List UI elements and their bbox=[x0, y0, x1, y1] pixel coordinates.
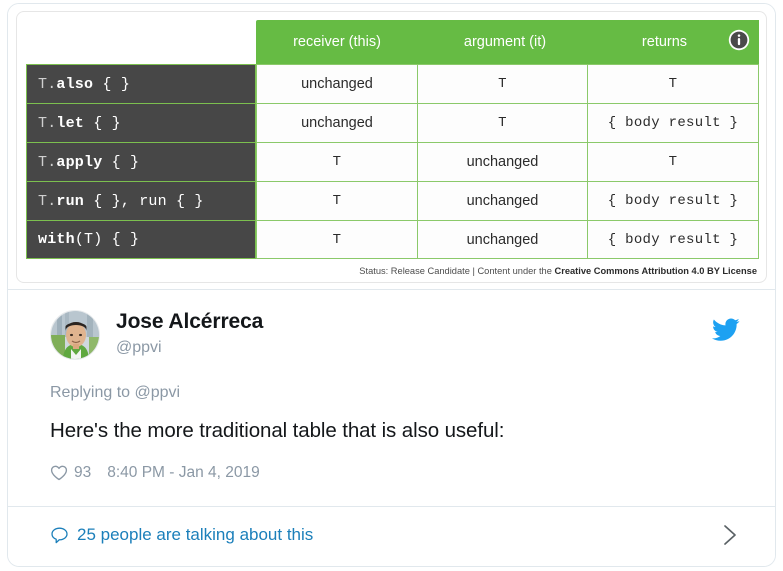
author-names: Jose Alcérreca @ppvi bbox=[116, 309, 263, 359]
info-icon[interactable] bbox=[728, 29, 750, 51]
cell-returns: { body result } bbox=[588, 103, 759, 142]
cell-returns: { body result } bbox=[588, 220, 759, 259]
cell-argument: T bbox=[418, 103, 588, 142]
cell-returns: { body result } bbox=[588, 181, 759, 220]
tweet-embed-screenshot: receiver (this) argument (it) returns bbox=[0, 0, 783, 571]
header-blank-corner bbox=[26, 20, 256, 64]
status-license-line: Status: Release Candidate | Content unde… bbox=[359, 266, 757, 276]
status-prefix-text: Status: Release Candidate | Content unde… bbox=[359, 266, 554, 276]
scope-function-label: T.also { } bbox=[26, 64, 256, 103]
tweet-author-row: Jose Alcérreca @ppvi bbox=[50, 310, 740, 366]
scope-receiver-type: T. bbox=[38, 193, 56, 210]
column-header-receiver-label: receiver (this) bbox=[293, 34, 381, 50]
cell-receiver: unchanged bbox=[256, 103, 418, 142]
scope-receiver-type: T. bbox=[38, 154, 56, 171]
conversation-link[interactable]: 25 people are talking about this bbox=[50, 525, 313, 545]
column-header-argument-label: argument (it) bbox=[464, 34, 546, 50]
table-row: with(T) { }Tunchanged{ body result } bbox=[26, 220, 759, 259]
column-header-receiver: receiver (this) bbox=[256, 20, 418, 64]
scope-function-suffix: { } bbox=[93, 76, 130, 93]
cell-receiver: T bbox=[256, 220, 418, 259]
scope-receiver-type: T. bbox=[38, 115, 56, 132]
avatar[interactable] bbox=[50, 310, 100, 360]
scope-function-label: T.apply { } bbox=[26, 142, 256, 181]
cell-returns: T bbox=[588, 64, 759, 103]
scope-function-name: let bbox=[56, 115, 84, 132]
scope-function-suffix: { }, run { } bbox=[84, 193, 204, 210]
chevron-right-icon[interactable] bbox=[719, 523, 741, 547]
author-handle[interactable]: @ppvi bbox=[116, 337, 263, 359]
scope-function-label: with(T) { } bbox=[26, 220, 256, 259]
column-header-returns: returns bbox=[588, 20, 759, 64]
table-body: T.also { }unchangedTTT.let { }unchangedT… bbox=[26, 64, 759, 259]
scope-function-label: T.let { } bbox=[26, 103, 256, 142]
scope-function-name: run bbox=[56, 193, 84, 210]
table-header-row: receiver (this) argument (it) returns bbox=[26, 20, 759, 64]
cell-argument: unchanged bbox=[418, 181, 588, 220]
twitter-embed-card: receiver (this) argument (it) returns bbox=[7, 3, 776, 567]
cell-receiver: T bbox=[256, 142, 418, 181]
cell-argument: T bbox=[418, 64, 588, 103]
author-display-name[interactable]: Jose Alcérreca bbox=[116, 309, 263, 335]
tweet-meta-row: 93 8:40 PM - Jan 4, 2019 bbox=[50, 462, 260, 484]
scope-functions-grid: receiver (this) argument (it) returns bbox=[26, 20, 759, 259]
scope-receiver-type: T. bbox=[38, 76, 56, 93]
cell-returns: T bbox=[588, 142, 759, 181]
tweet-footer: 25 people are talking about this bbox=[8, 507, 775, 567]
twitter-bird-icon[interactable] bbox=[712, 318, 740, 342]
scope-function-name: apply bbox=[56, 154, 102, 171]
heart-icon[interactable] bbox=[50, 464, 68, 482]
kotlin-scope-functions-table: receiver (this) argument (it) returns bbox=[16, 11, 767, 283]
tweet-body: Jose Alcérreca @ppvi Replying to @ppvi H… bbox=[8, 290, 775, 506]
table-row: T.let { }unchangedT{ body result } bbox=[26, 103, 759, 142]
cell-receiver: unchanged bbox=[256, 64, 418, 103]
tweet-text: Here's the more traditional table that i… bbox=[50, 418, 504, 444]
scope-function-name: also bbox=[56, 76, 93, 93]
cell-receiver: T bbox=[256, 181, 418, 220]
speech-bubble-icon bbox=[50, 526, 69, 545]
conversation-link-text: 25 people are talking about this bbox=[77, 525, 313, 545]
table-row: T.apply { }TunchangedT bbox=[26, 142, 759, 181]
scope-function-suffix: (T) { } bbox=[75, 231, 139, 248]
scope-function-label: T.run { }, run { } bbox=[26, 181, 256, 220]
tweet-timestamp[interactable]: 8:40 PM - Jan 4, 2019 bbox=[107, 464, 260, 482]
scope-function-suffix: { } bbox=[84, 115, 121, 132]
replying-to-label: Replying to @ppvi bbox=[50, 384, 180, 402]
scope-function-suffix: { } bbox=[102, 154, 139, 171]
column-header-returns-label: returns bbox=[642, 34, 687, 50]
cell-argument: unchanged bbox=[418, 142, 588, 181]
tweet-image-attachment[interactable]: receiver (this) argument (it) returns bbox=[8, 4, 775, 289]
cell-argument: unchanged bbox=[418, 220, 588, 259]
table-row: T.also { }unchangedTT bbox=[26, 64, 759, 103]
status-license-text: Creative Commons Attribution 4.0 BY Lice… bbox=[554, 266, 757, 276]
column-header-argument: argument (it) bbox=[418, 20, 588, 64]
table-row: T.run { }, run { }Tunchanged{ body resul… bbox=[26, 181, 759, 220]
scope-function-name: with bbox=[38, 231, 75, 248]
like-count: 93 bbox=[74, 464, 91, 482]
